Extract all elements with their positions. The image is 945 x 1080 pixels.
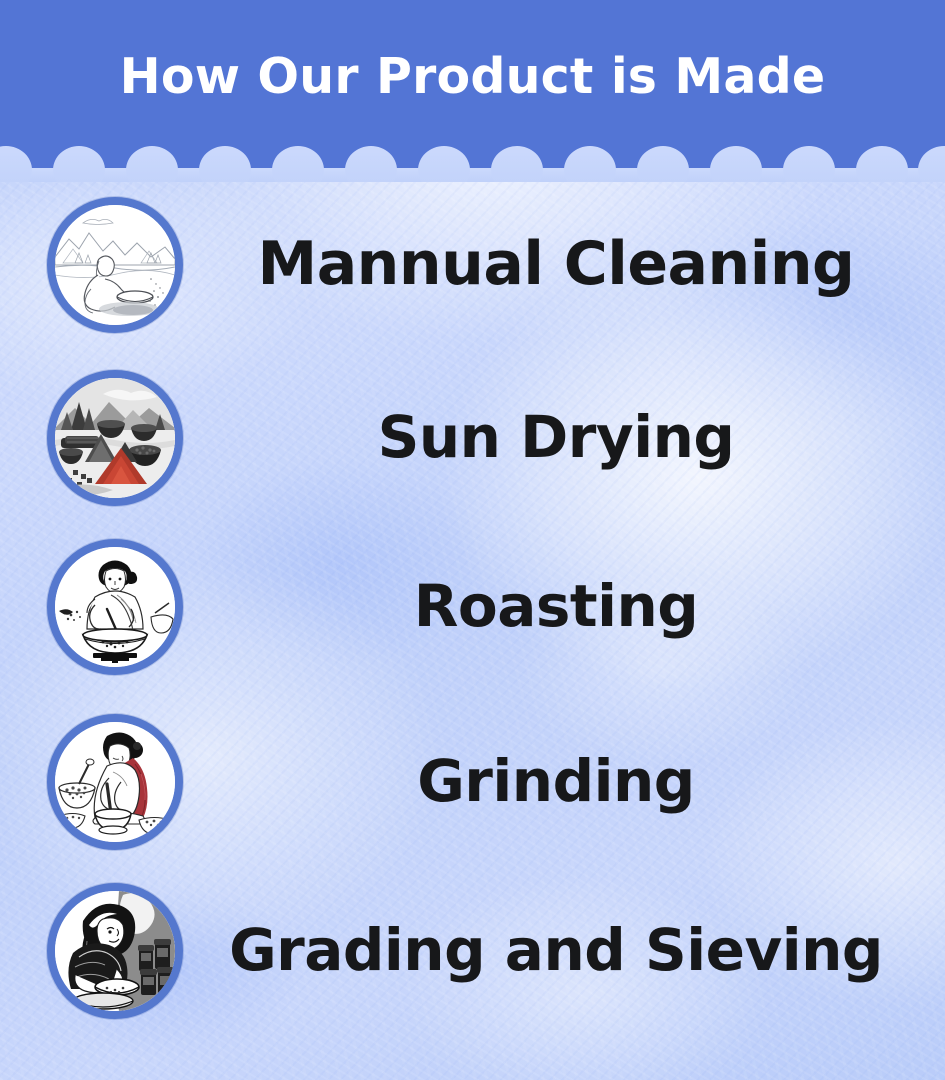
step-label: Grinding [183, 752, 945, 811]
poster-header: How Our Product is Made [0, 0, 945, 146]
product-process-poster: How Our Product is Made [0, 0, 945, 1080]
manual-cleaning-icon [47, 197, 183, 333]
process-steps-list: Mannual Cleaning [0, 182, 945, 1080]
grading-sieving-illustration [55, 891, 175, 1011]
roasting-icon [47, 539, 183, 675]
roasting-illustration [55, 547, 175, 667]
list-item[interactable]: Grinding [0, 707, 945, 857]
scalloped-edge-divider [0, 146, 945, 182]
manual-cleaning-illustration [55, 205, 175, 325]
list-item[interactable]: Mannual Cleaning [0, 190, 945, 340]
sun-drying-illustration [55, 378, 175, 498]
step-label: Mannual Cleaning [183, 234, 945, 295]
grinding-icon [47, 714, 183, 850]
list-item[interactable]: Sun Drying [0, 363, 945, 513]
step-label: Grading and Sieving [183, 921, 945, 980]
page-title: How Our Product is Made [0, 52, 945, 101]
step-label: Roasting [183, 577, 945, 636]
list-item[interactable]: Grading and Sieving [0, 876, 945, 1026]
grinding-illustration [55, 722, 175, 842]
list-item[interactable]: Roasting [0, 532, 945, 682]
grading-sieving-icon [47, 883, 183, 1019]
step-label: Sun Drying [183, 408, 945, 467]
sun-drying-icon [47, 370, 183, 506]
